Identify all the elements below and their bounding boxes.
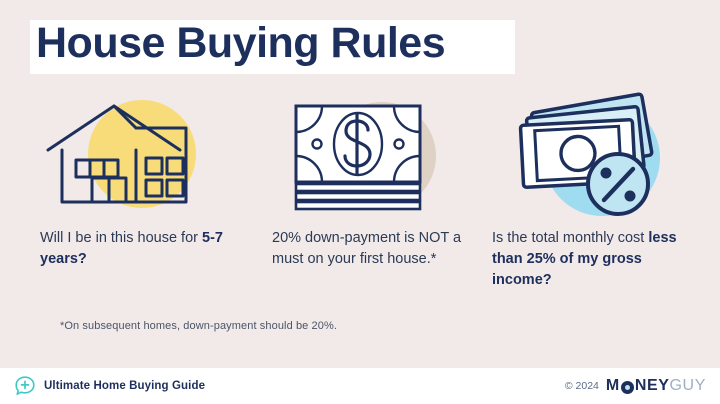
- rule-column-monthly-cost: Is the total monthly cost less than 25% …: [480, 88, 720, 291]
- brand-o-icon: [621, 381, 634, 394]
- footnote: *On subsequent homes, down-payment shoul…: [60, 320, 337, 332]
- caption-plain-text: 20% down-payment is NOT a must on your f…: [272, 230, 461, 267]
- footer-bar: Ultimate Home Buying Guide © 2024 M NEY …: [0, 368, 720, 404]
- page-title: House Buying Rules: [30, 16, 445, 70]
- rule-caption-downpayment: 20% down-payment is NOT a must on your f…: [272, 228, 472, 270]
- rule-column-house: Will I be in this house for 5-7 years?: [0, 88, 240, 291]
- rule-caption-house: Will I be in this house for 5-7 years?: [40, 228, 240, 270]
- brand-suffix: GUY: [670, 377, 706, 395]
- brand-mid: NEY: [635, 377, 670, 395]
- footer-right-group: © 2024 M NEY GUY: [565, 377, 706, 395]
- footer-guide-label: Ultimate Home Buying Guide: [44, 380, 205, 392]
- caption-plain-text: Will I be in this house for: [40, 230, 202, 246]
- cash-stack-icon-area: [272, 88, 462, 220]
- copyright-text: © 2024: [565, 380, 599, 392]
- infographic-root: House Buying Rules: [0, 0, 720, 404]
- rule-caption-monthly-cost: Is the total monthly cost less than 25% …: [492, 228, 692, 291]
- house-icon: [40, 88, 230, 220]
- footer-left-group[interactable]: Ultimate Home Buying Guide: [14, 375, 205, 397]
- cash-percent-icon: [492, 88, 682, 220]
- cash-stack-icon: [272, 88, 462, 220]
- house-icon-area: [40, 88, 230, 220]
- rule-column-downpayment: 20% down-payment is NOT a must on your f…: [240, 88, 480, 291]
- rules-columns: Will I be in this house for 5-7 years?: [0, 88, 720, 291]
- moneyguy-logo[interactable]: M NEY GUY: [606, 377, 706, 395]
- speech-bubble-plus-icon: [14, 375, 36, 397]
- brand-prefix: M: [606, 377, 620, 395]
- caption-plain-text: Is the total monthly cost: [492, 230, 648, 246]
- cash-percent-icon-area: [492, 88, 682, 220]
- page-title-container: House Buying Rules: [30, 16, 445, 74]
